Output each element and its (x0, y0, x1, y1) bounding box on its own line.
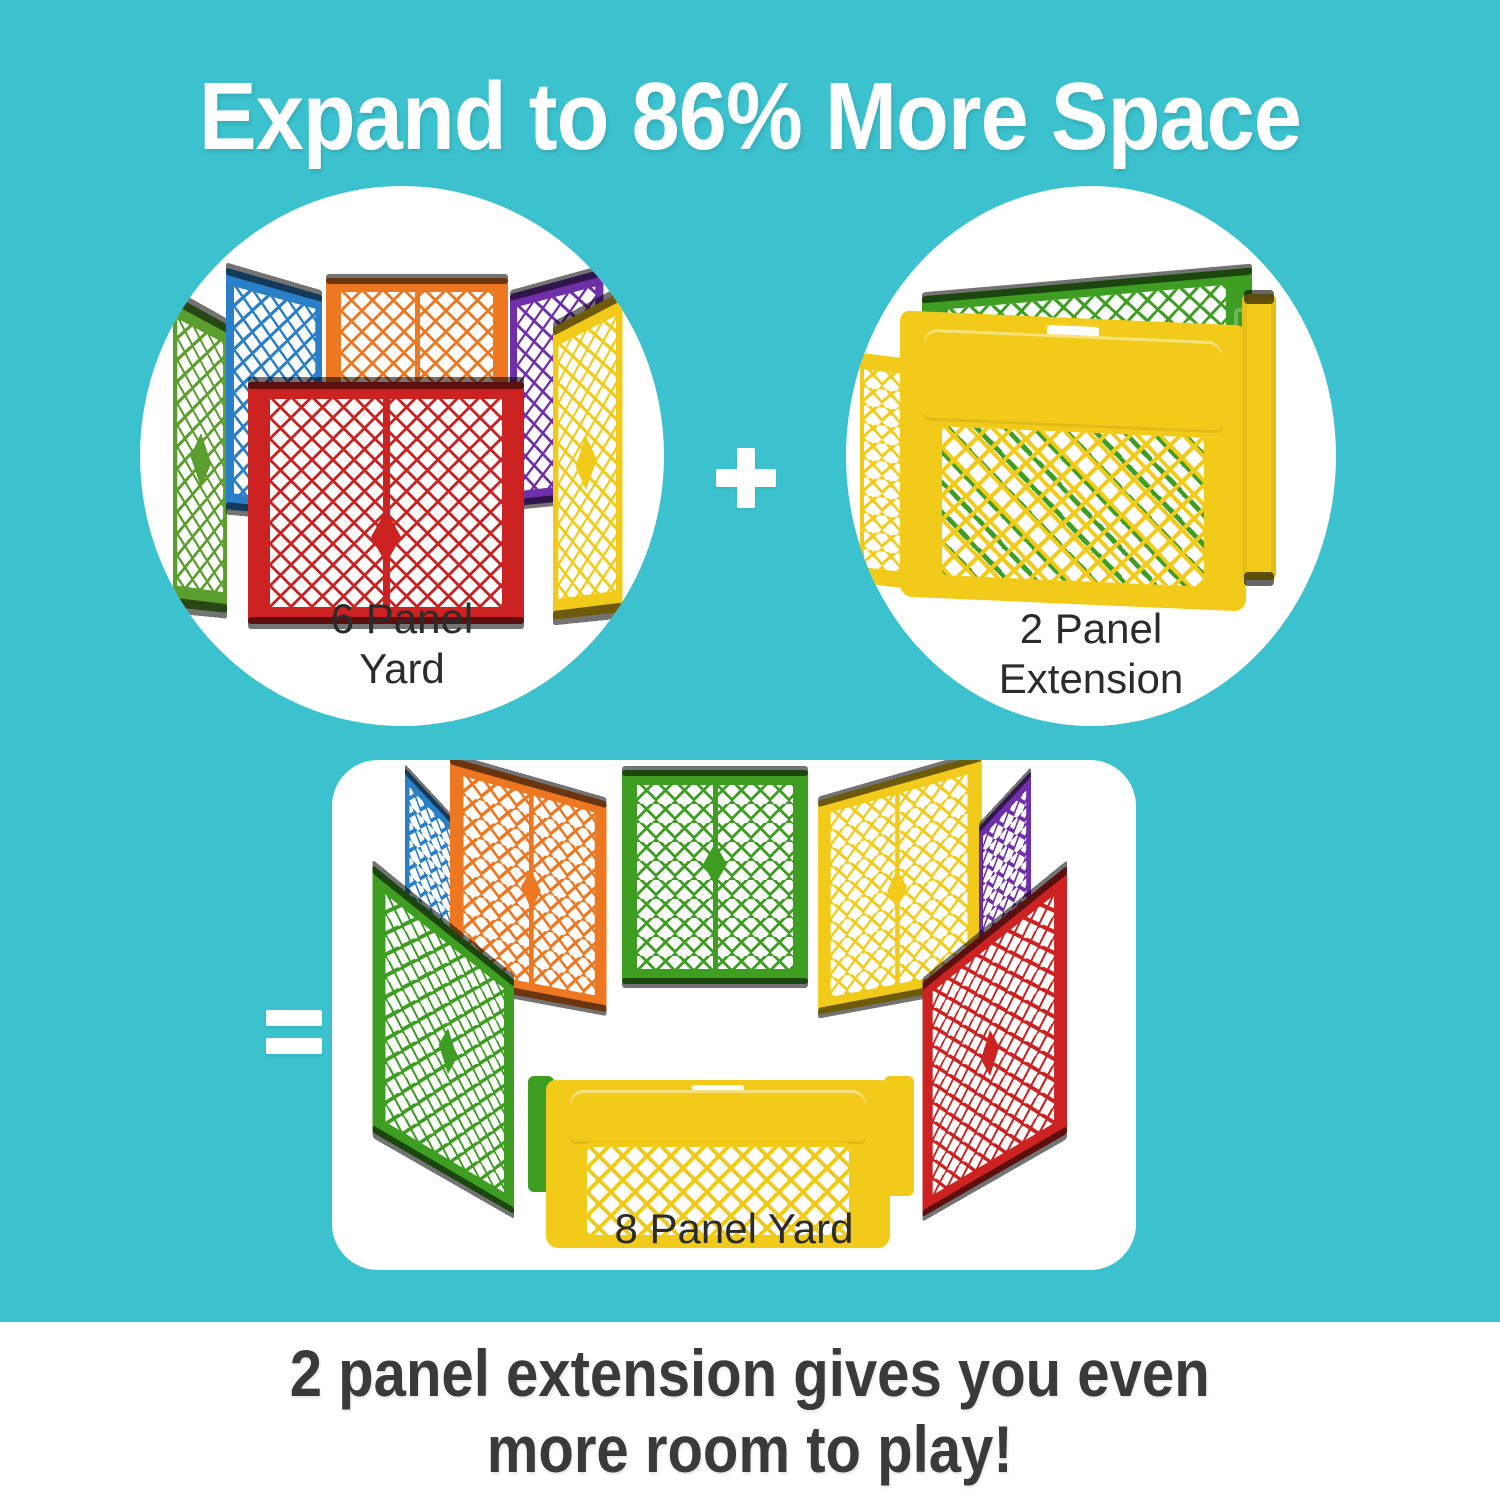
panel-yellow-right (553, 291, 622, 620)
product-card-6-panel-yard[interactable]: 6 Panel Yard (140, 186, 664, 726)
panel-yellow-extension-gate (900, 310, 1246, 611)
footer-caption-band: 2 panel extension gives you even more ro… (0, 1322, 1500, 1500)
product-card-8-panel-yard[interactable]: 8 Panel Yard (332, 760, 1136, 1270)
label-8-panel-yard: 8 Panel Yard (332, 1204, 1136, 1254)
caption-line-1: 2 panel extension gives you even (290, 1336, 1210, 1410)
hinge-post-yellow (1242, 294, 1276, 580)
label-line-1: 6 Panel (331, 595, 473, 642)
footer-caption: 2 panel extension gives you even more ro… (290, 1335, 1210, 1487)
panel-green-back-center (622, 770, 808, 984)
panel-red-front (248, 382, 524, 624)
hinge-cap-bottom (1244, 572, 1274, 586)
product-card-2-panel-extension[interactable]: 2 Panel Extension (846, 186, 1336, 726)
label-6-panel-yard: 6 Panel Yard (140, 594, 664, 694)
page-title: Expand to 86% More Space (75, 62, 1425, 172)
caption-line-2: more room to play! (487, 1412, 1013, 1486)
panel-green-left (173, 294, 227, 613)
infographic-root: Expand to 86% More Space (0, 0, 1500, 1500)
label-line-2: Extension (999, 655, 1183, 702)
equals-icon (266, 1006, 322, 1058)
eight-panel-yard-illustration (332, 760, 1136, 1270)
label-2-panel-extension: 2 Panel Extension (846, 604, 1336, 704)
plus-icon (716, 448, 776, 508)
hero-background: Expand to 86% More Space (0, 0, 1500, 1322)
label-line-1: 2 Panel (1020, 605, 1162, 652)
label-line-2: Yard (359, 645, 445, 692)
hinge-cap-top (1244, 290, 1274, 304)
